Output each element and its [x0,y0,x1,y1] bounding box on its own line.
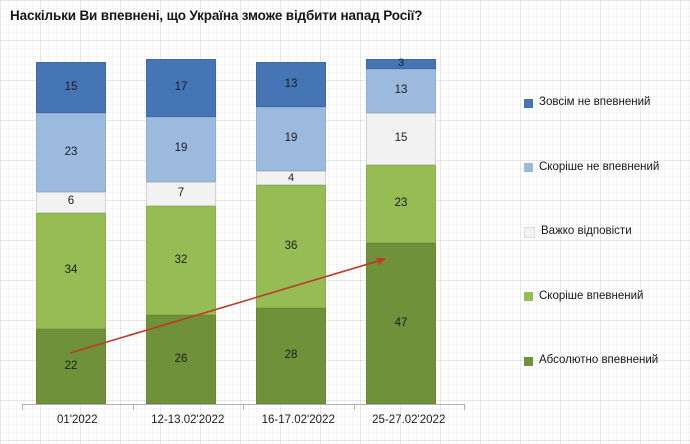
bar-segment-value: 19 [175,143,188,155]
bar-segment-value: 13 [285,79,298,91]
bar-segment-value: 23 [65,147,78,159]
bar-segment-value: 17 [175,82,188,94]
bar-segment: 3 [366,59,436,69]
bar-segment-value: 34 [65,265,78,277]
bar-segment: 19 [256,107,326,172]
bar-segment-value: 26 [175,354,188,366]
bar-segment-value: 23 [395,198,408,210]
plot-area: 152363422171973226131943628313152347 [22,62,464,404]
x-axis-tick [354,404,355,410]
bar-segment: 17 [146,59,216,117]
bar-segment-value: 6 [68,196,74,208]
bar-segment: 13 [366,69,436,113]
legend-label: Скоріше не впевнений [539,162,659,174]
bar-segment-value: 36 [285,241,298,253]
legend-swatch-icon [524,163,533,172]
legend-label: Зовсім не впевнений [539,97,650,109]
bar-segment-value: 4 [288,173,294,184]
bar-segment: 26 [146,315,216,404]
x-axis-tick [243,404,244,410]
chart-title: Наскільки Ви впевнені, що Україна зможе … [10,8,670,23]
legend-label: Важко відповісти [541,226,632,238]
bar-segment: 34 [36,213,106,329]
bar-segment: 13 [256,62,326,106]
bar-segment: 23 [366,165,436,244]
bar-segment: 15 [366,113,436,164]
bar-column: 152363422 [36,62,106,404]
bar-segment: 6 [36,192,106,213]
bar-segment: 36 [256,185,326,308]
legend-item[interactable]: Абсолютно впевнений [524,354,658,368]
legend-swatch-icon [524,357,533,366]
legend-item[interactable]: Важко відповісти [524,225,632,239]
bar-segment: 28 [256,308,326,404]
bar-column: 131943628 [256,62,326,404]
bar-segment: 32 [146,206,216,315]
bar-segment: 22 [36,329,106,404]
bar-segment-value: 15 [395,133,408,145]
bar-segment: 23 [36,113,106,192]
bar-column: 313152347 [366,59,436,404]
bar-segment-value: 32 [175,255,188,267]
legend-item[interactable]: Зовсім не впевнений [524,96,650,110]
bar-segment: 7 [146,182,216,206]
x-axis-tick [22,404,23,410]
legend-item[interactable]: Скоріше не впевнений [524,161,659,175]
legend-label: Абсолютно впевнений [539,355,658,367]
bar-segment-value: 13 [395,85,408,97]
bar-segment-value: 15 [65,82,78,94]
bar-segment-value: 22 [65,361,78,373]
bar-column: 171973226 [146,59,216,404]
x-axis-tick [133,404,134,410]
legend-swatch-icon [524,227,535,238]
x-axis-label: 25-27.02'2022 [344,414,474,426]
legend-label: Скоріше впевнений [539,291,643,303]
stacked-bar-chart: Наскільки Ви впевнені, що Україна зможе … [0,0,690,444]
chart-legend: Зовсім не впевненийСкоріше не впевненийВ… [524,96,684,372]
legend-swatch-icon [524,99,533,108]
bar-segment-value: 47 [395,318,408,330]
bar-segment: 15 [36,62,106,113]
bar-segment-value: 19 [285,133,298,145]
bar-segment-value: 28 [285,350,298,362]
bar-segment: 4 [256,171,326,185]
bar-segment: 19 [146,117,216,182]
legend-swatch-icon [524,292,533,301]
bar-segment-value: 7 [178,188,184,200]
bar-segment-value: 3 [398,58,404,69]
x-axis-tick [464,404,465,410]
legend-item[interactable]: Скоріше впевнений [524,290,643,304]
bar-segment: 47 [366,243,436,404]
